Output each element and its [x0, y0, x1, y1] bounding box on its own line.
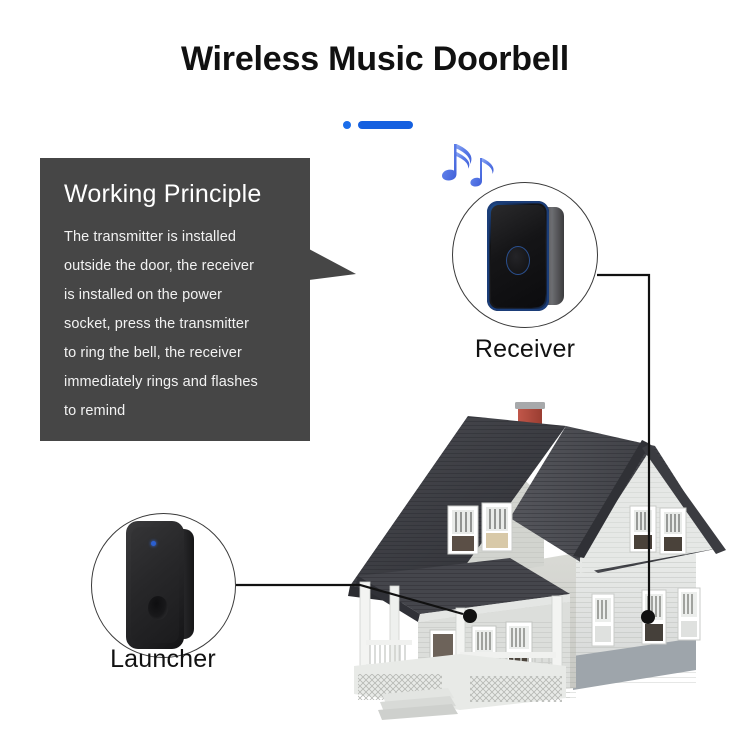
callout-line: immediately rings and flashes: [64, 368, 290, 397]
working-principle-callout: Working Principle The transmitter is ins…: [40, 158, 310, 441]
page-title: Wireless Music Doorbell: [0, 40, 750, 79]
callout-line: socket, press the transmitter: [64, 310, 290, 339]
launcher-label: Launcher: [78, 645, 248, 674]
signal-dot-icon: [343, 121, 351, 129]
launcher-button[interactable]: [148, 596, 168, 620]
callout-line: outside the door, the receiver: [64, 252, 290, 281]
launcher-device: [126, 521, 202, 649]
receiver-button[interactable]: [506, 246, 530, 275]
callout-line: to remind: [64, 397, 290, 426]
signal-dash-icon: [343, 120, 413, 130]
callout-line: is installed on the power: [64, 281, 290, 310]
house-illustration: [330, 398, 730, 723]
launcher-led-indicator: [151, 541, 156, 546]
signal-bar-icon: [358, 121, 413, 129]
receiver-label: Receiver: [440, 335, 610, 364]
callout-heading: Working Principle: [64, 180, 290, 209]
receiver-device: [487, 201, 567, 311]
callout-line: to ring the bell, the receiver: [64, 339, 290, 368]
infographic-canvas: Wireless Music Doorbell W: [0, 0, 750, 750]
receiver-front-face: [487, 201, 549, 311]
callout-tail-icon: [309, 249, 357, 281]
launcher-body: [126, 521, 184, 649]
callout-body: The transmitter is installed outside the…: [64, 223, 290, 426]
callout-line: The transmitter is installed: [64, 223, 290, 252]
